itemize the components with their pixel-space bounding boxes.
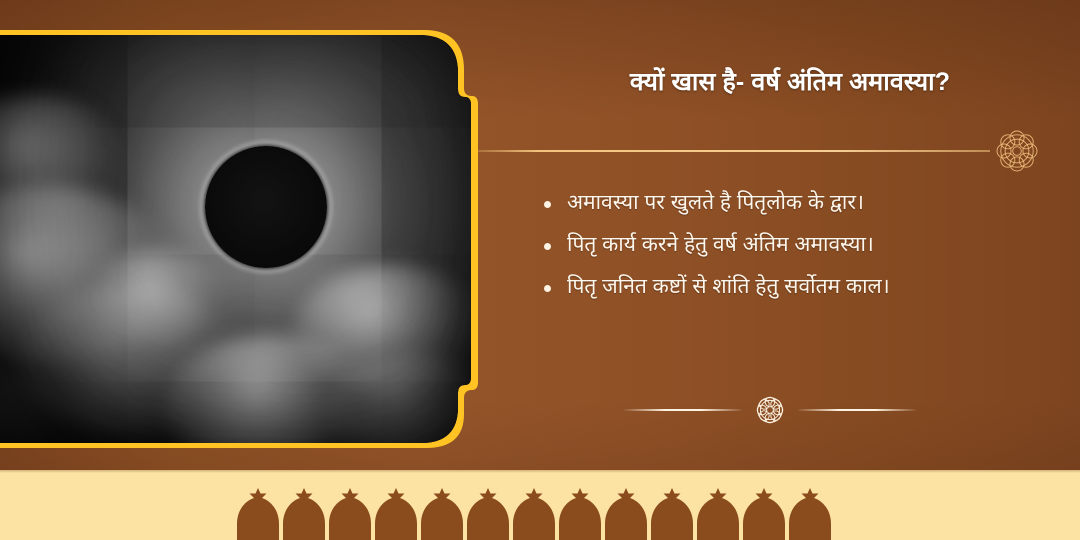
bullet-list: अमावस्या पर खुलते है पितृलोक के द्वार। प… bbox=[530, 188, 1060, 313]
eclipse-moon-disc bbox=[205, 146, 327, 268]
list-item-label: पितृ जनित कष्टों से शांति हेतु सर्वोतम क… bbox=[567, 272, 890, 302]
section-divider bbox=[610, 392, 930, 428]
rosette-ornament-icon bbox=[990, 124, 1044, 178]
temple-arch-border-icon bbox=[235, 488, 845, 540]
poster-canvas: क्यों खास है- वर्ष अंतिम अमावस्या? अमावस bbox=[0, 0, 1080, 540]
title-divider-rule bbox=[478, 150, 990, 152]
divider-line-right bbox=[798, 409, 916, 411]
list-item-label: पितृ कार्य करने हेतु वर्ष अंतिम अमावस्या… bbox=[567, 230, 874, 260]
list-item-label: अमावस्या पर खुलते है पितृलोक के द्वार। bbox=[567, 188, 864, 218]
divider-line-left bbox=[624, 409, 742, 411]
photo-frame bbox=[0, 30, 478, 448]
bullet-dot-icon bbox=[544, 201, 551, 208]
rosette-ornament-icon bbox=[750, 390, 790, 430]
list-item: पितृ जनित कष्टों से शांति हेतु सर्वोतम क… bbox=[530, 272, 1060, 302]
band-shadow bbox=[0, 470, 1080, 473]
list-item: अमावस्या पर खुलते है पितृलोक के द्वार। bbox=[530, 188, 1060, 218]
page-title: क्यों खास है- वर्ष अंतिम अमावस्या? bbox=[540, 66, 1040, 99]
list-item: पितृ कार्य करने हेतु वर्ष अंतिम अमावस्या… bbox=[530, 230, 1060, 260]
content-panel: क्यों खास है- वर्ष अंतिम अमावस्या? अमावस bbox=[500, 0, 1080, 470]
bullet-dot-icon bbox=[544, 285, 551, 292]
eclipse-photo bbox=[0, 35, 472, 443]
bullet-dot-icon bbox=[544, 243, 551, 250]
